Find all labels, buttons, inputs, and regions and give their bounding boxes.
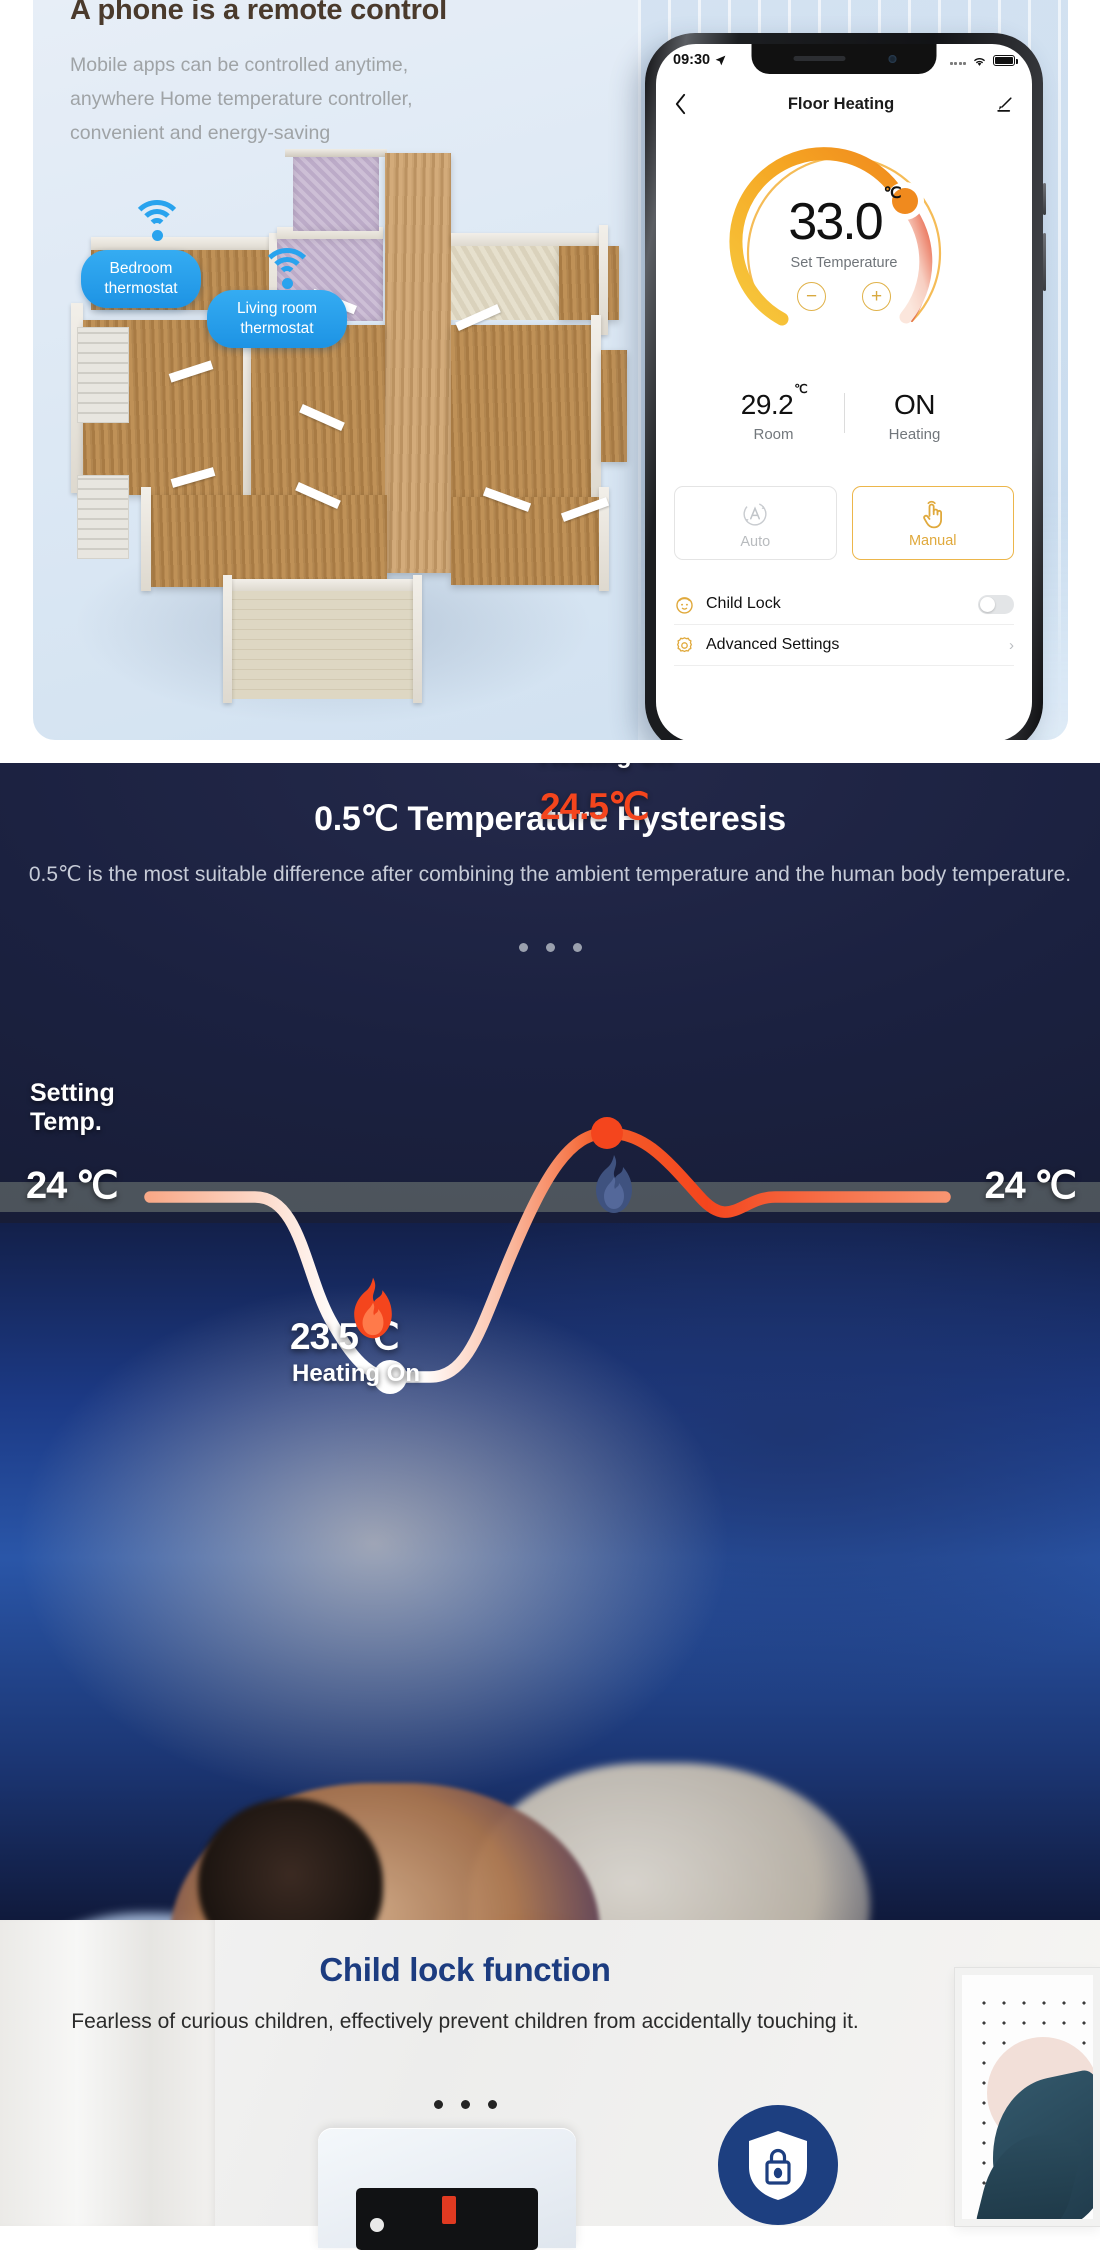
decrease-temperature-button[interactable]: −: [797, 282, 826, 311]
tag-bedroom-line2: thermostat: [104, 280, 177, 297]
remote-control-card: A phone is a remote control Mobile apps …: [33, 0, 1068, 740]
set-temperature-label: Set Temperature: [791, 255, 898, 271]
page-title: A phone is a remote control: [70, 0, 447, 27]
readouts-row: 29.2℃ Room ON Heating: [656, 389, 1032, 443]
row-advanced-settings[interactable]: Advanced Settings ›: [674, 625, 1014, 666]
heating-off-value: 24.5℃: [540, 785, 649, 828]
mode-manual-button[interactable]: Manual: [852, 486, 1015, 560]
mode-auto-button[interactable]: Auto: [674, 486, 837, 560]
wifi-icon-bedroom: [125, 200, 189, 244]
hysteresis-curve: [0, 763, 1100, 1920]
thermostat-display-indicator: [370, 2218, 384, 2232]
hand-touch-icon: [918, 498, 948, 530]
phone-screen: 09:30: [656, 44, 1032, 740]
phone-mockup: 09:30: [645, 33, 1043, 740]
shield-lock-icon: [745, 2128, 811, 2202]
status-bar: 09:30: [656, 44, 1032, 76]
chevron-left-icon[interactable]: [674, 93, 687, 115]
heating-off-marker: [591, 1117, 623, 1149]
child-lock-toggle[interactable]: [978, 595, 1014, 614]
mode-buttons: Auto Manual: [674, 486, 1014, 560]
framed-poster: [955, 1968, 1100, 2226]
baby-face-icon: [674, 594, 695, 615]
temperature-dial[interactable]: 33.0℃ Set Temperature − +: [724, 129, 964, 369]
status-bar-time: 09:30: [673, 52, 710, 68]
wifi-status-icon: [971, 54, 988, 67]
child-lock-subtitle: Fearless of curious children, effectivel…: [0, 2004, 930, 2039]
increase-temperature-button[interactable]: +: [862, 282, 891, 311]
cellular-signal-icon: [950, 56, 967, 65]
phone-button-volume-up[interactable]: [1043, 183, 1046, 215]
thermostat-display-digit: [442, 2196, 456, 2224]
row-advanced-settings-label: Advanced Settings: [706, 636, 839, 654]
tag-livingroom-thermostat[interactable]: Living room thermostat: [207, 290, 347, 348]
setpoint-value-right: 24 ℃: [984, 1163, 1076, 1208]
room-temperature-unit: ℃: [794, 382, 807, 396]
chevron-right-icon[interactable]: ›: [1009, 637, 1014, 654]
red-flame-icon: [350, 1275, 396, 1341]
thermostat-device: [318, 2128, 576, 2248]
child-lock-title: Child lock function: [0, 1951, 930, 1989]
readout-heating: ON Heating: [845, 389, 985, 443]
mode-manual-label: Manual: [909, 533, 957, 549]
setpoint-value-left: 24 ℃: [26, 1163, 118, 1208]
tag-livingroom-line1: Living room: [237, 300, 317, 317]
phone-button-power[interactable]: [1043, 233, 1046, 291]
row-child-lock[interactable]: Child Lock: [674, 584, 1014, 625]
tag-livingroom-line2: thermostat: [240, 320, 313, 337]
setting-temp-label: SettingTemp.: [30, 1079, 115, 1137]
room-temperature-value: 29.2: [741, 389, 794, 420]
app-navbar: Floor Heating: [656, 84, 1032, 124]
row-child-lock-label: Child Lock: [706, 595, 781, 613]
hysteresis-chart: SettingTemp. 24 ℃ 24 ℃ Heating Off 24.5℃…: [0, 763, 1100, 1920]
heating-state-label: Heating: [845, 426, 985, 443]
battery-icon: [993, 55, 1015, 66]
thermostat-display: [356, 2188, 538, 2250]
heating-state-value: ON: [894, 389, 935, 420]
readout-room: 29.2℃ Room: [704, 389, 844, 443]
blue-flame-icon: [592, 1153, 636, 1215]
page-subtitle: Mobile apps can be controlled anytime, a…: [70, 48, 490, 150]
wifi-icon-livingroom: [255, 248, 319, 292]
shield-lock-badge: [718, 2105, 838, 2225]
heating-on-annotation: Heating On: [292, 1360, 420, 1388]
app-title: Floor Heating: [687, 95, 995, 114]
settings-list: Child Lock Advanced Settings ›: [656, 584, 1032, 666]
set-temperature-unit: ℃: [884, 185, 902, 202]
pencil-icon[interactable]: [995, 95, 1014, 114]
hysteresis-section: 0.5℃ Temperature Hysteresis 0.5℃ is the …: [0, 763, 1100, 1920]
remote-control-section: A phone is a remote control Mobile apps …: [0, 0, 1100, 763]
tag-bedroom-line1: Bedroom: [110, 260, 173, 277]
heating-off-annotation: Heating Off: [540, 763, 675, 770]
room-temperature-label: Room: [704, 426, 844, 443]
gear-icon: [674, 635, 695, 656]
tag-bedroom-thermostat[interactable]: Bedroom thermostat: [81, 250, 201, 308]
auto-mode-icon: [738, 497, 772, 531]
set-temperature-number: 33.0: [788, 193, 881, 251]
set-temperature-value: 33.0℃: [788, 196, 899, 248]
location-arrow-icon: [714, 54, 727, 67]
mode-auto-label: Auto: [740, 534, 770, 550]
